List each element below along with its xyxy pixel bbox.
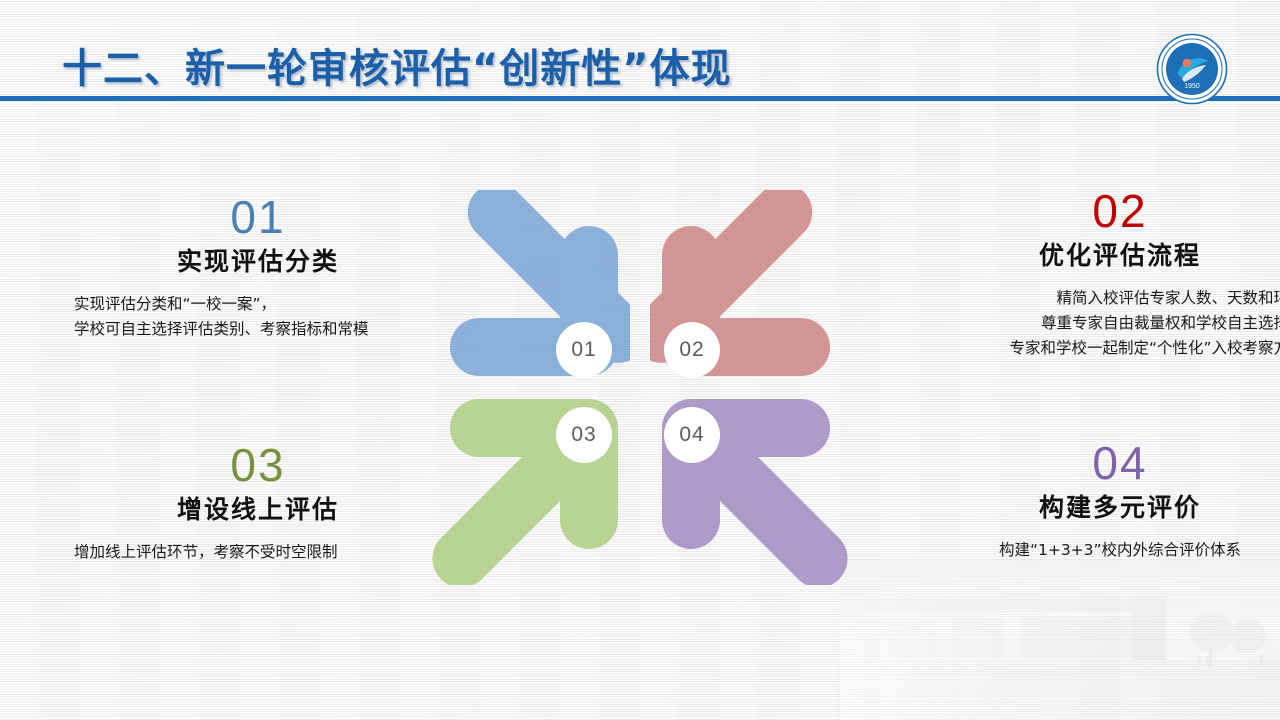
quadrant-02-body: 精简入校评估专家人数、天数和环节； 尊重专家自由裁量权和学校自主选择权； 专家和… [920, 286, 1280, 361]
pinwheel-bubble-03: 03 [556, 407, 612, 463]
quadrant-04-body: 构建“1+3+3”校内外综合评价体系 [920, 538, 1280, 563]
quadrant-04-heading: 构建多元评价 [920, 490, 1280, 526]
pinwheel-bubble-04: 04 [664, 407, 720, 463]
quadrant-04-number: 04 [920, 438, 1280, 488]
quadrant-01-number: 01 [58, 192, 458, 242]
campus-gateway-photo [840, 560, 1280, 720]
pinwheel-bubble-01: 01 [556, 322, 612, 378]
quadrant-03-number: 03 [58, 440, 458, 490]
page-title: 十二、新一轮审核评估“创新性”体现 [62, 36, 732, 94]
header-divider [0, 96, 1280, 101]
quadrant-01-body: 实现评估分类和“一校一案”， 学校可自主选择评估类别、考察指标和常模 [74, 292, 458, 342]
quadrant-03-body: 增加线上评估环节，考察不受时空限制 [74, 540, 458, 565]
four-arrow-pinwheel [430, 190, 850, 580]
slide-canvas: 十二、新一轮审核评估“创新性”体现 1950 01 实现评估分类 实现评估分类和… [0, 0, 1280, 720]
quadrant-03-text: 03 增设线上评估 增加线上评估环节，考察不受时空限制 [58, 440, 458, 565]
pinwheel-bubble-02: 02 [664, 322, 720, 378]
quadrant-04-text: 04 构建多元评价 构建“1+3+3”校内外综合评价体系 [920, 438, 1280, 563]
quadrant-02-heading: 优化评估流程 [920, 238, 1280, 274]
university-logo: 1950 [1156, 33, 1228, 105]
quadrant-02-text: 02 优化评估流程 精简入校评估专家人数、天数和环节； 尊重专家自由裁量权和学校… [920, 186, 1280, 361]
quadrant-01-text: 01 实现评估分类 实现评估分类和“一校一案”， 学校可自主选择评估类别、考察指… [58, 192, 458, 342]
logo-year: 1950 [1184, 83, 1200, 90]
quadrant-02-number: 02 [920, 186, 1280, 236]
quadrant-01-heading: 实现评估分类 [58, 244, 458, 280]
quadrant-03-heading: 增设线上评估 [58, 492, 458, 528]
